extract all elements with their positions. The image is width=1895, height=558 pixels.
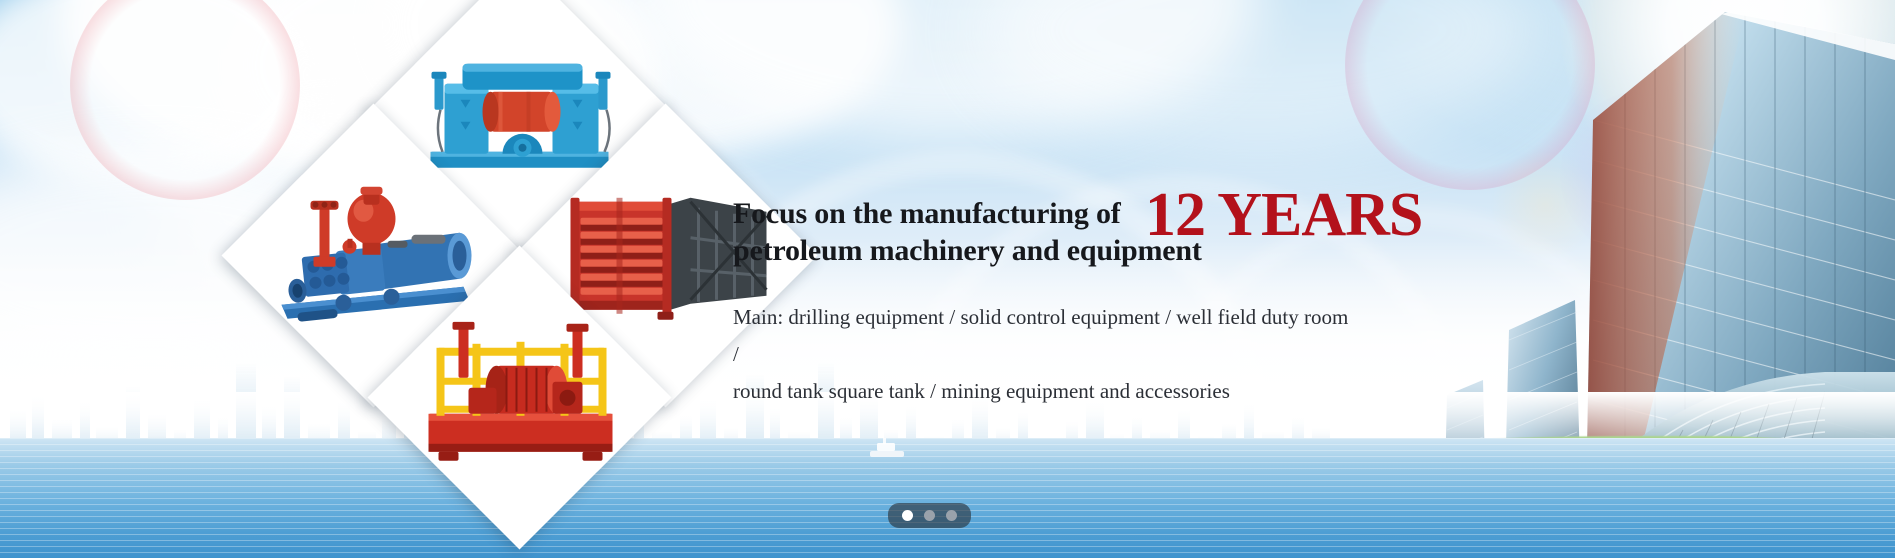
product-diamond-gallery <box>258 0 718 460</box>
banner-copy: Focus on the manufacturing of petroleum … <box>733 196 1493 409</box>
carousel-dot-1[interactable] <box>902 510 913 521</box>
subtitle-line-1: Main: drilling equipment / solid control… <box>733 299 1353 373</box>
hero-banner: Focus on the manufacturing of petroleum … <box>0 0 1895 558</box>
subtitle: Main: drilling equipment / solid control… <box>733 299 1353 409</box>
subtitle-line-2: round tank square tank / mining equipmen… <box>733 373 1353 410</box>
red-winch-platform-image <box>412 322 627 472</box>
carousel-dot-2[interactable] <box>924 510 935 521</box>
carousel-pagination[interactable] <box>888 503 971 528</box>
years-badge: 12 YEARS <box>1145 184 1422 246</box>
boat-icon <box>868 438 908 460</box>
carousel-dot-3[interactable] <box>946 510 957 521</box>
mud-pump-image <box>264 175 484 335</box>
drawworks-winch-image <box>415 36 625 186</box>
